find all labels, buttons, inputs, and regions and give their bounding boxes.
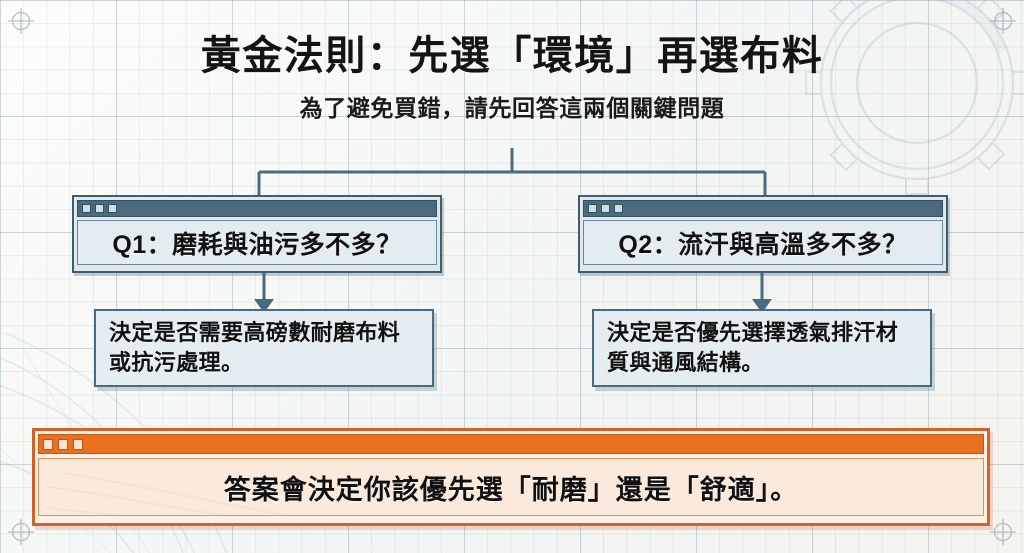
registration-crosshair-icon — [990, 519, 1016, 545]
banner-titlebar — [38, 434, 984, 454]
window-body: Q1：磨耗與油污多不多？ — [77, 220, 437, 265]
window-control-square — [601, 204, 610, 213]
window-control-square — [108, 204, 117, 213]
window-titlebar — [77, 200, 437, 217]
question-card-q1[interactable]: Q1：磨耗與油污多不多？ — [72, 195, 442, 273]
answer-card-q1: 決定是否需要高磅數耐磨布料或抗污處理。 — [94, 309, 434, 387]
page-subtitle: 為了避免買錯，請先回答這兩個關鍵問題 — [0, 89, 1024, 123]
registration-crosshair-icon — [990, 8, 1016, 34]
answer-text-q1: 決定是否需要高磅數耐磨布料或抗污處理。 — [109, 318, 419, 376]
window-control-square — [73, 439, 83, 450]
question-label-q2: Q2：流汗與高溫多不多？ — [618, 225, 907, 261]
question-label-q1: Q1：磨耗與油污多不多？ — [112, 225, 401, 261]
registration-crosshair-icon — [8, 519, 34, 545]
heading-block: 黃金法則：先選「環境」再選布料 為了避免買錯，請先回答這兩個關鍵問題 — [0, 34, 1024, 123]
window-control-square — [95, 204, 104, 213]
window-control-square — [82, 204, 91, 213]
window-titlebar — [583, 200, 943, 217]
window-control-square — [58, 439, 68, 450]
banner-body: 答案會決定你該優先選「耐磨」還是「舒適」。 — [38, 458, 984, 516]
window-control-square — [614, 204, 623, 213]
conclusion-banner: 答案會決定你該優先選「耐磨」還是「舒適」。 — [32, 428, 990, 526]
window-control-square — [43, 439, 53, 450]
answer-card-q2: 決定是否優先選擇透氣排汗材質與通風結構。 — [592, 309, 932, 387]
answer-text-q2: 決定是否優先選擇透氣排汗材質與通風結構。 — [607, 318, 917, 376]
window-control-square — [588, 204, 597, 213]
banner-text: 答案會決定你該優先選「耐磨」還是「舒適」。 — [224, 468, 799, 507]
registration-crosshair-icon — [8, 8, 34, 34]
page-title: 黃金法則：先選「環境」再選布料 — [0, 34, 1024, 79]
slide-canvas: 黃金法則：先選「環境」再選布料 為了避免買錯，請先回答這兩個關鍵問題 — [0, 0, 1024, 553]
window-body: Q2：流汗與高溫多不多？ — [583, 220, 943, 265]
question-card-q2[interactable]: Q2：流汗與高溫多不多？ — [578, 195, 948, 273]
